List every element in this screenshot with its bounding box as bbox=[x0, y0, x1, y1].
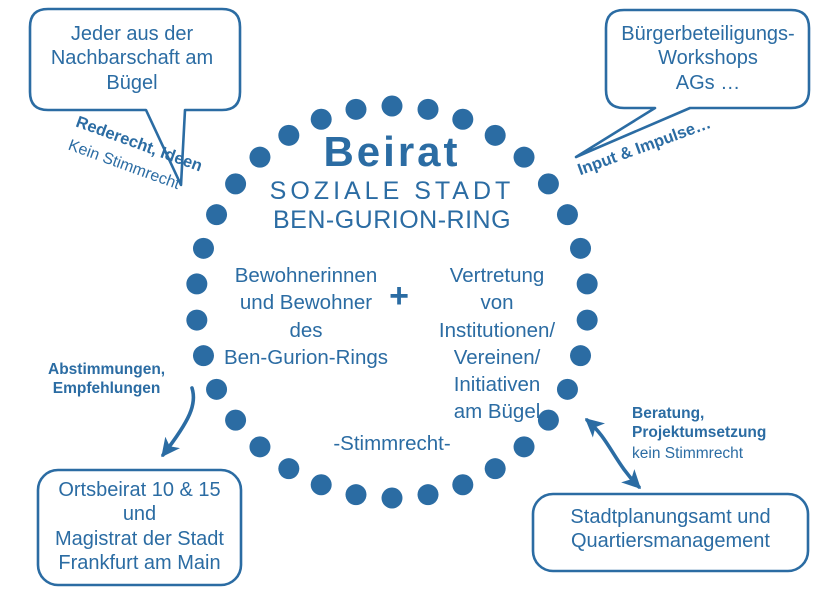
ring-dot bbox=[345, 99, 366, 120]
ring-dot bbox=[278, 458, 299, 479]
ring-dot bbox=[577, 273, 598, 294]
ring-dot bbox=[206, 379, 227, 400]
ring-dot bbox=[485, 458, 506, 479]
speech-bubble-top-left-text: Jeder aus der Nachbarschaft am Bügel bbox=[32, 22, 232, 95]
center-group-institutions: Vertretung von Institutionen/ Vereinen/ … bbox=[418, 262, 576, 426]
box-ortsbeirat-magistrat-text: Ortsbeirat 10 & 15 und Magistrat der Sta… bbox=[38, 478, 241, 576]
ring-dot bbox=[570, 238, 591, 259]
ring-dot bbox=[186, 310, 207, 331]
center-title: Beirat bbox=[242, 126, 542, 177]
arrow-label-beratung-projektumsetzung: Beratung, Projektumsetzung bbox=[632, 404, 766, 443]
center-group-residents: Bewohnerinnen und Bewohner des Ben-Gurio… bbox=[218, 262, 394, 371]
center-voting-note: -Stimmrecht- bbox=[302, 431, 482, 456]
ring-dot bbox=[193, 345, 214, 366]
center-subtitle-ben-gurion-ring: BEN-GURION-RING bbox=[242, 205, 542, 236]
ring-dot bbox=[345, 484, 366, 505]
ring-dot bbox=[193, 238, 214, 259]
arrow-abstimmungen bbox=[163, 388, 193, 455]
ring-dot bbox=[206, 204, 227, 225]
ring-dot bbox=[452, 474, 473, 495]
ring-dot bbox=[557, 204, 578, 225]
ring-dot bbox=[382, 96, 403, 117]
center-subtitle-soziale-stadt: SOZIALE STADT bbox=[242, 176, 542, 207]
box-stadtplanungsamt-text: Stadtplanungsamt und Quartiersmanagement bbox=[533, 505, 808, 554]
ring-dot bbox=[418, 99, 439, 120]
ring-dot bbox=[186, 273, 207, 294]
ring-dot bbox=[225, 410, 246, 431]
ring-dot bbox=[311, 474, 332, 495]
ring-dot bbox=[249, 436, 270, 457]
arrow-label-kein-stimmrecht: kein Stimmrecht bbox=[632, 444, 743, 463]
arrow-label-abstimmungen-empfehlungen: Abstimmungen, Empfehlungen bbox=[48, 360, 165, 399]
ring-dot bbox=[577, 310, 598, 331]
ring-dot bbox=[418, 484, 439, 505]
speech-bubble-top-right-text: Bürgerbeteiligungs- Workshops AGs … bbox=[608, 22, 808, 95]
plus-icon: + bbox=[386, 279, 412, 313]
ring-dot bbox=[514, 436, 535, 457]
ring-dot bbox=[382, 488, 403, 509]
diagram-canvas: Jeder aus der Nachbarschaft am Bügel Red… bbox=[0, 0, 820, 600]
